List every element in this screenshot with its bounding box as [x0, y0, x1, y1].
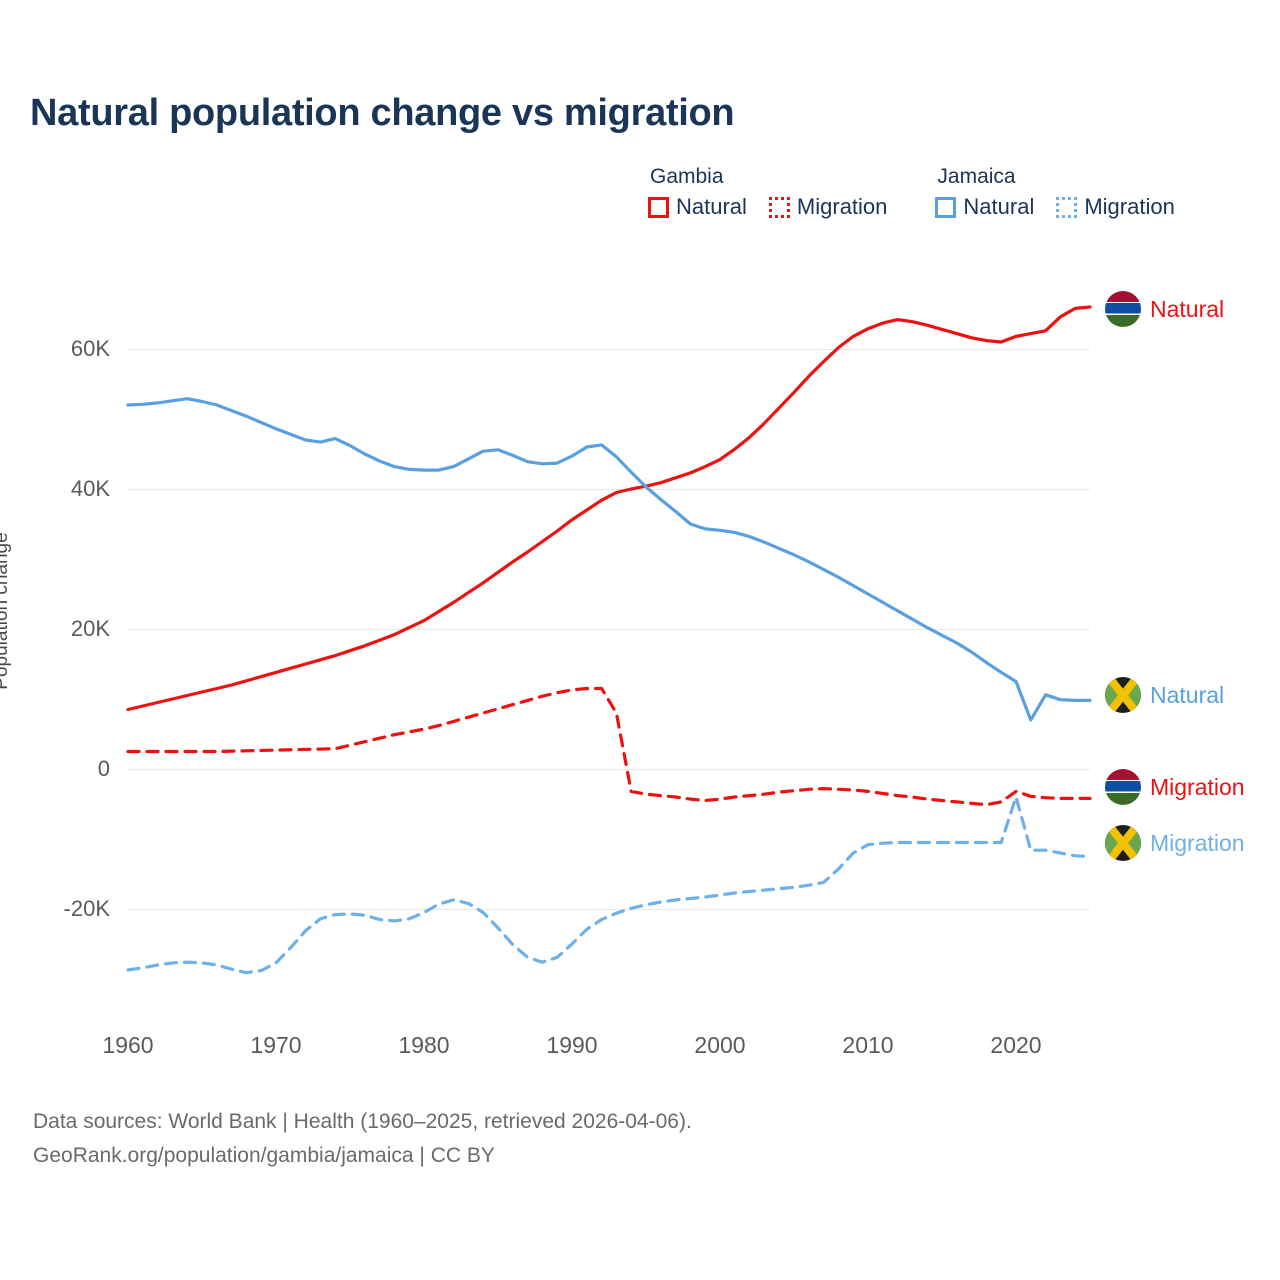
- gambia-flag-icon: [1105, 291, 1141, 327]
- y-axis-label: Population change: [0, 381, 13, 841]
- plot-area: -20K020K40K60K 1960197019801990200020102…: [0, 0, 1280, 1280]
- chart-root: Natural population change vs migration G…: [0, 0, 1280, 1280]
- jamaica-flag-icon: [1105, 677, 1141, 713]
- series-lines: [0, 0, 1280, 1280]
- jamaica-flag-icon: [1105, 825, 1141, 861]
- series-end-label-text: Migration: [1150, 830, 1245, 857]
- series-end-label-text: Natural: [1150, 296, 1224, 323]
- series-line-jamaica-migration: [128, 797, 1090, 973]
- series-end-label: Natural: [1105, 677, 1224, 713]
- gambia-flag-icon: [1105, 769, 1141, 805]
- series-end-label: Natural: [1105, 291, 1224, 327]
- series-line-gambia-migration: [128, 689, 1090, 805]
- series-end-label: Migration: [1105, 769, 1245, 805]
- footer-attribution: GeoRank.org/population/gambia/jamaica | …: [33, 1139, 692, 1173]
- series-end-label: Migration: [1105, 825, 1245, 861]
- series-end-label-text: Migration: [1150, 774, 1245, 801]
- series-line-gambia-natural: [128, 307, 1090, 710]
- chart-footer: Data sources: World Bank | Health (1960–…: [33, 1105, 692, 1173]
- footer-data-sources: Data sources: World Bank | Health (1960–…: [33, 1105, 692, 1139]
- series-end-label-text: Natural: [1150, 682, 1224, 709]
